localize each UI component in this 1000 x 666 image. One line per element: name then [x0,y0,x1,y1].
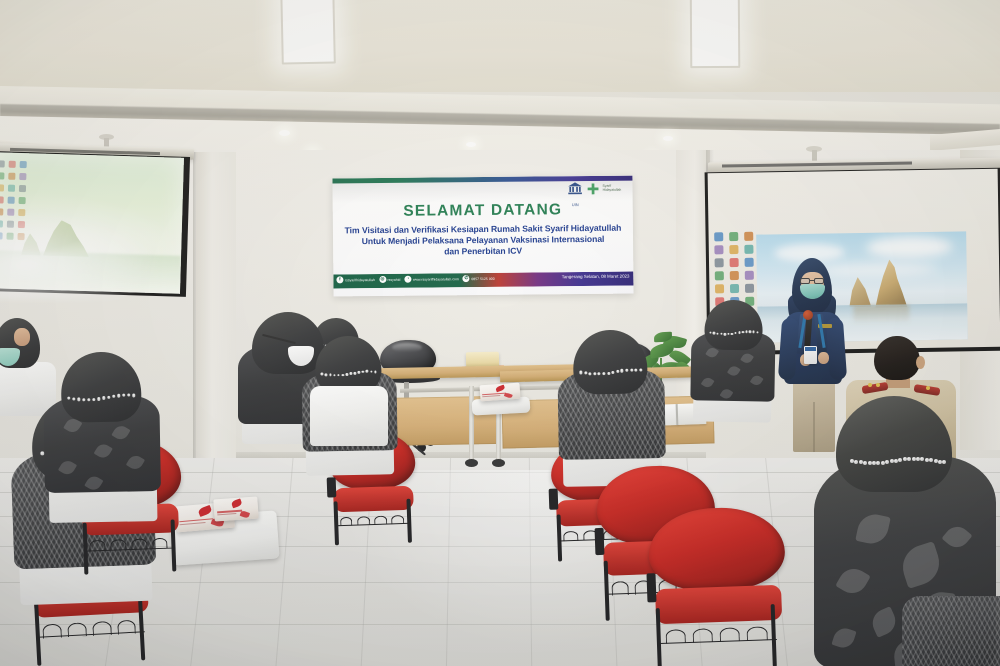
hijab-bead [756,331,758,333]
snack-box-text-line [483,395,501,397]
hijab-bead [720,333,722,335]
hijab-bead [616,370,619,373]
chair-wire-loop [110,539,126,551]
chair-armrest [646,573,656,602]
hijab-bead [724,333,726,335]
hijab-bead [67,397,70,400]
audience-group [0,0,1000,666]
chair-wire-loop [391,515,404,525]
hijab-bead [122,394,125,397]
hijab-bead [112,395,115,398]
hijab-bead [117,394,120,397]
audience-chair [647,506,788,666]
hijab-bead [584,372,587,375]
snack-box-text-line [217,510,243,513]
chair-wire-loop [43,623,62,638]
audience-participant [555,329,668,487]
snack-box-flourish [504,392,513,399]
hijab-bead [598,372,601,375]
hijab-bead [82,398,85,401]
chair-wire-loop [92,621,111,636]
hijab-bead [716,332,718,334]
chair-wire-loop [665,629,686,644]
hijab-bead [87,398,90,401]
snack-box [479,383,520,402]
chair-wire-loop [374,515,387,525]
snack-box [213,496,258,521]
hijab-bead [102,396,105,399]
hijab-bead [593,372,596,375]
chair-wire-loop [131,538,147,550]
chair-wire-loop [67,622,86,637]
hijab-bead [579,371,582,374]
hijab-bead [107,395,110,398]
chair-wire-loop [340,516,353,526]
chair-backrest [647,506,786,593]
seminar-room-photograph: UIN Syarif Hidayatullah SELAMAT DATANG T… [0,0,1000,666]
chair-wire-loop [719,627,740,642]
chair-wire-loop [117,619,136,634]
hijab-bead [639,369,642,372]
audience-participant [689,299,778,423]
chair-wire-loop [692,628,713,643]
chair-armrest [549,489,559,511]
hijab-bead [752,331,754,333]
chair-armrest [595,528,605,555]
hijab-bead [742,331,744,333]
chair-wire-loop [357,516,370,526]
hijab-bead [602,372,605,375]
participant-lab-coat [310,386,388,446]
audience-participant [41,351,164,523]
snack-box-text-line [180,522,206,526]
hijab-bead [607,372,610,375]
hijab-bead [634,368,637,371]
hijab-bead [621,369,624,372]
chair-wire-loop [563,531,578,542]
chair-seat [655,585,781,624]
hijab-bead [734,332,736,334]
hijab-bead [127,394,130,397]
hijab-bead [97,397,100,400]
chair-seat [333,486,413,513]
chair-wire-loop [611,581,629,595]
hijab-bead [630,368,633,371]
hijab-bead [749,331,751,333]
hijab-bead [625,369,628,372]
hijab-bead [727,333,729,335]
hijab-bead [132,394,135,397]
participant-hijab-head [705,300,763,351]
hijab-bead [77,398,80,401]
chair-wire-loop [747,626,768,641]
chair-wire-loop [90,540,106,552]
chair-wire-loop [152,538,168,550]
hijab-bead [709,331,711,333]
participant-hand [14,328,30,346]
snack-box-logo [230,499,241,509]
hijab-bead [92,398,95,401]
hijab-bead [72,397,75,400]
hijab-bead [588,372,591,375]
participant-hijab-head [61,351,142,422]
hijab-bead [731,332,733,334]
snack-box-logo [495,384,505,392]
snack-box-flourish [240,510,250,518]
hijab-bead [611,371,614,374]
snack-box-text-line [180,518,214,523]
snack-box-text-line [217,513,236,515]
participant-hijab-head [573,329,648,395]
snack-box-logo [198,505,213,517]
hijab-bead [713,332,715,334]
chair-armrest [327,477,337,497]
audience-participant-back [310,356,390,446]
hijab-bead [738,331,740,333]
hijab-bead [745,331,747,333]
